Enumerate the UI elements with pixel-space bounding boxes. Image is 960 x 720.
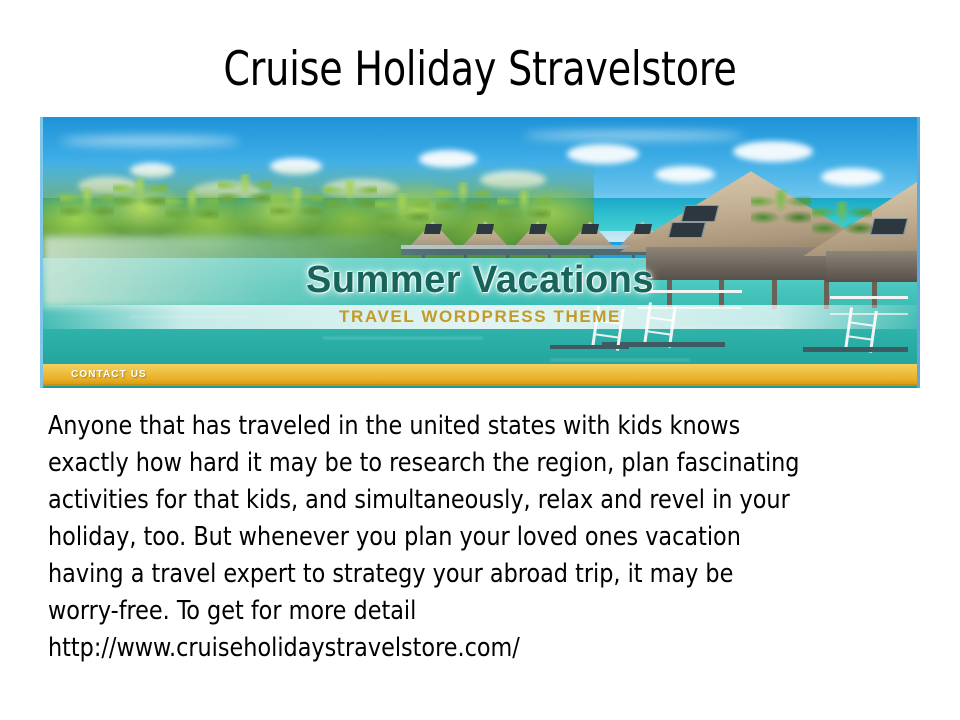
body-paragraph: Anyone that has traveled in the united s… — [48, 408, 888, 667]
palm-tree-icon — [165, 190, 219, 230]
banner-image: Summer Vacations TRAVEL WORDPRESS THEME … — [40, 117, 920, 388]
banner-subtitle-band: TRAVEL WORDPRESS THEME — [43, 305, 917, 329]
distant-hut-skylight — [476, 224, 494, 234]
contact-us-label[interactable]: CONTACT US — [71, 369, 147, 380]
slide-canvas: Cruise Holiday Stravelstore — [0, 0, 960, 720]
water-ripple — [550, 359, 690, 361]
page-title: Cruise Holiday Stravelstore — [48, 42, 912, 98]
cloud-wisp-icon — [60, 136, 240, 146]
distant-hut-skylight — [581, 224, 599, 234]
body-line-url[interactable]: http://www.cruiseholidaystravelstore.com… — [48, 630, 888, 667]
bungalow-deck — [803, 347, 908, 352]
palm-tree-icon — [218, 174, 272, 214]
distant-hut-skylight — [529, 224, 547, 234]
distant-hut-skylight — [424, 224, 442, 234]
body-line: worry-free. To get for more detail — [48, 593, 888, 630]
bungalow-deck — [550, 345, 629, 349]
cloud-wisp-icon — [524, 131, 744, 140]
palm-tree-icon — [751, 190, 811, 234]
banner-headline-text: Summer Vacations — [43, 258, 917, 302]
palm-tree-icon — [812, 201, 872, 245]
body-line: holiday, too. But whenever you plan your… — [48, 519, 888, 556]
roof-skylight-icon — [869, 218, 907, 235]
palm-tree-icon — [323, 179, 377, 219]
palm-tree-icon — [60, 187, 114, 227]
body-line: exactly how hard it may be to research t… — [48, 445, 888, 482]
palm-tree-icon — [436, 182, 490, 222]
water-ripple — [323, 337, 483, 339]
roof-skylight-icon — [668, 222, 706, 238]
body-line: Anyone that has traveled in the united s… — [48, 408, 888, 445]
banner-headline-block: Summer Vacations TRAVEL WORDPRESS THEME — [43, 258, 917, 329]
contact-bar[interactable]: CONTACT US — [43, 364, 917, 386]
body-line: activities for that kids, and simultaneo… — [48, 482, 888, 519]
roof-skylight-icon — [681, 205, 719, 222]
palm-tree-icon — [270, 187, 324, 227]
body-line: having a travel expert to strategy your … — [48, 556, 888, 593]
banner-subtitle-text: TRAVEL WORDPRESS THEME — [339, 307, 621, 327]
palm-tree-icon — [113, 177, 167, 217]
